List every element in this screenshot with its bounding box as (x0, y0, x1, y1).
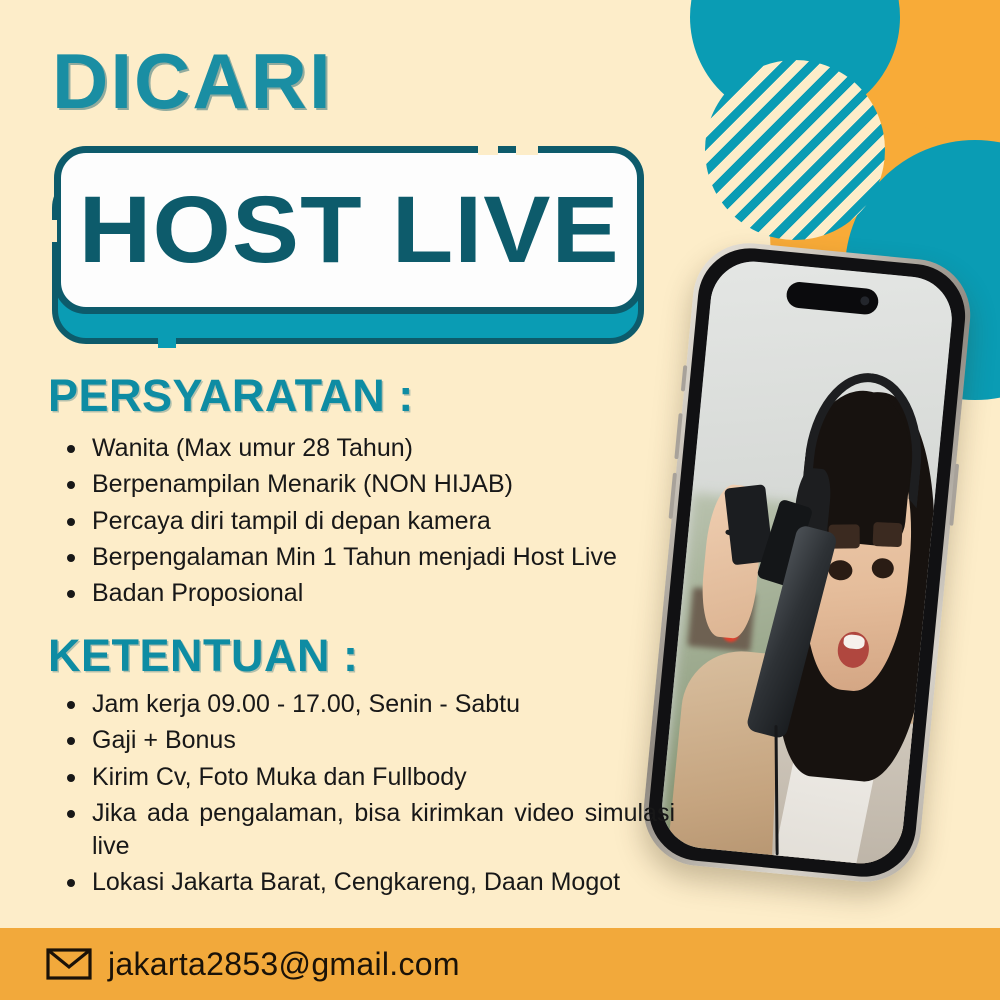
list-item: Wanita (Max umur 28 Tahun) (60, 432, 670, 465)
striped-circle-decoration (705, 60, 885, 240)
list-item: Kirim Cv, Foto Muka dan Fullbody (60, 761, 675, 794)
list-item: Lokasi Jakarta Barat, Cengkareng, Daan M… (60, 866, 675, 899)
list-item: Badan Proposional (60, 577, 670, 610)
banner-border-gap (478, 144, 498, 155)
banner-border-gap (516, 144, 538, 155)
phone-mockup (639, 238, 976, 887)
headline-dicari: DICARI (52, 44, 333, 118)
list-item: Berpengalaman Min 1 Tahun menjadi Host L… (60, 541, 670, 574)
envelope-icon (46, 948, 92, 980)
banner-border-gap (158, 338, 176, 348)
contact-email: jakarta2853@gmail.com (108, 946, 460, 983)
phone-screen (658, 258, 955, 867)
list-item: Berpenampilan Menarik (NON HIJAB) (60, 468, 670, 501)
host-eyebrow-right (872, 522, 902, 547)
list-item: Jam kerja 09.00 - 17.00, Senin - Sabtu (60, 688, 675, 721)
list-item: Gaji + Bonus (60, 724, 675, 757)
terms-heading: KETENTUAN : (48, 630, 358, 682)
list-item: Percaya diri tampil di depan kamera (60, 505, 670, 538)
requirements-heading: PERSYARATAN : (48, 370, 414, 422)
list-item: Jika ada pengalaman, bisa kirimkan video… (60, 797, 675, 864)
contact-footer: jakarta2853@gmail.com (0, 928, 1000, 1000)
front-camera-icon (860, 296, 870, 306)
job-title-text: HOST LIVE (78, 176, 619, 285)
requirements-list: Wanita (Max umur 28 Tahun) Berpenampilan… (60, 432, 670, 613)
banner-card: HOST LIVE (54, 146, 644, 314)
terms-list: Jam kerja 09.00 - 17.00, Senin - Sabtu G… (60, 688, 675, 903)
job-title-banner: HOST LIVE (48, 146, 648, 351)
job-poster: DICARI HOST LIVE PERSYARATAN : Wanita (M… (0, 0, 1000, 1000)
banner-border-gap (46, 220, 57, 242)
